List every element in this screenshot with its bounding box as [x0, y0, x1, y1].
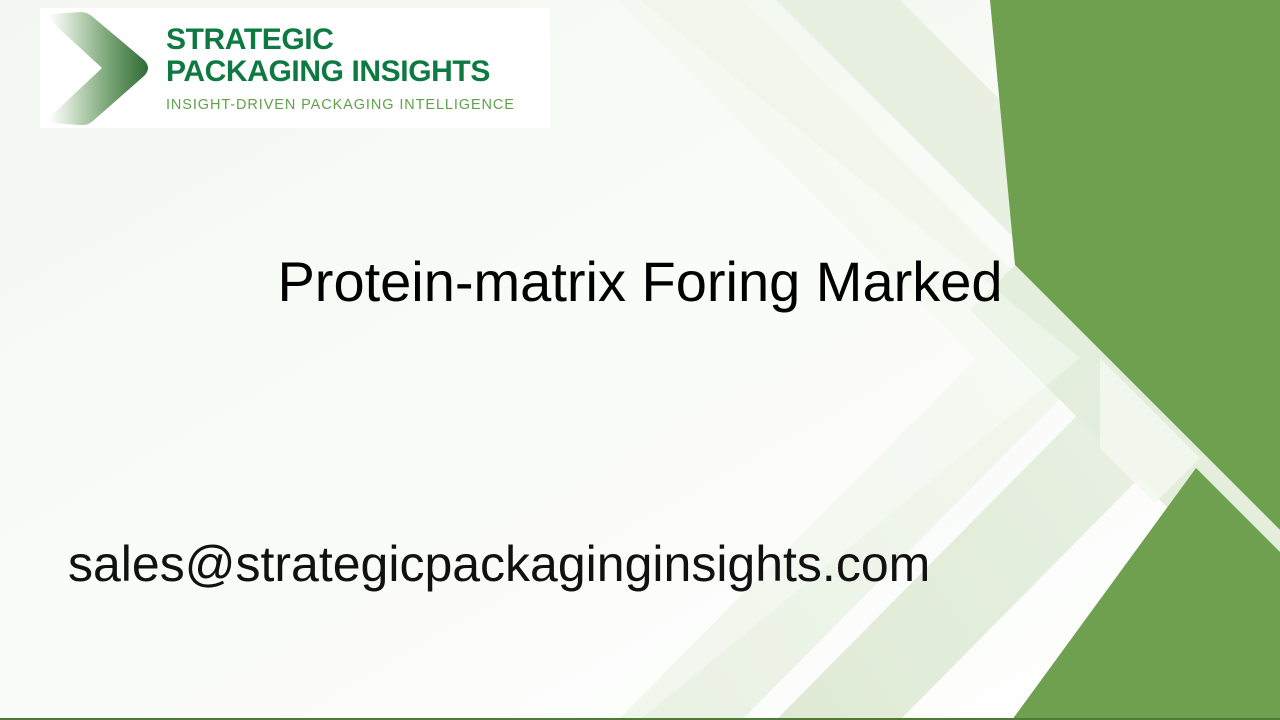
logo-tagline: INSIGHT-DRIVEN PACKAGING INTELLIGENCE [166, 97, 515, 113]
logo-text: STRATEGIC PACKAGING INSIGHTS INSIGHT-DRI… [166, 24, 515, 113]
contact-email: sales@strategicpackaginginsights.com [68, 533, 930, 595]
logo-name-line-2: PACKAGING INSIGHTS [166, 56, 515, 88]
company-logo: STRATEGIC PACKAGING INSIGHTS INSIGHT-DRI… [40, 8, 550, 128]
chevron-arrow-icon [40, 8, 152, 128]
slide-title: Protein-matrix Foring Marked [0, 248, 1280, 316]
slide-canvas: STRATEGIC PACKAGING INSIGHTS INSIGHT-DRI… [0, 0, 1280, 720]
logo-name-line-1: STRATEGIC [166, 24, 515, 56]
